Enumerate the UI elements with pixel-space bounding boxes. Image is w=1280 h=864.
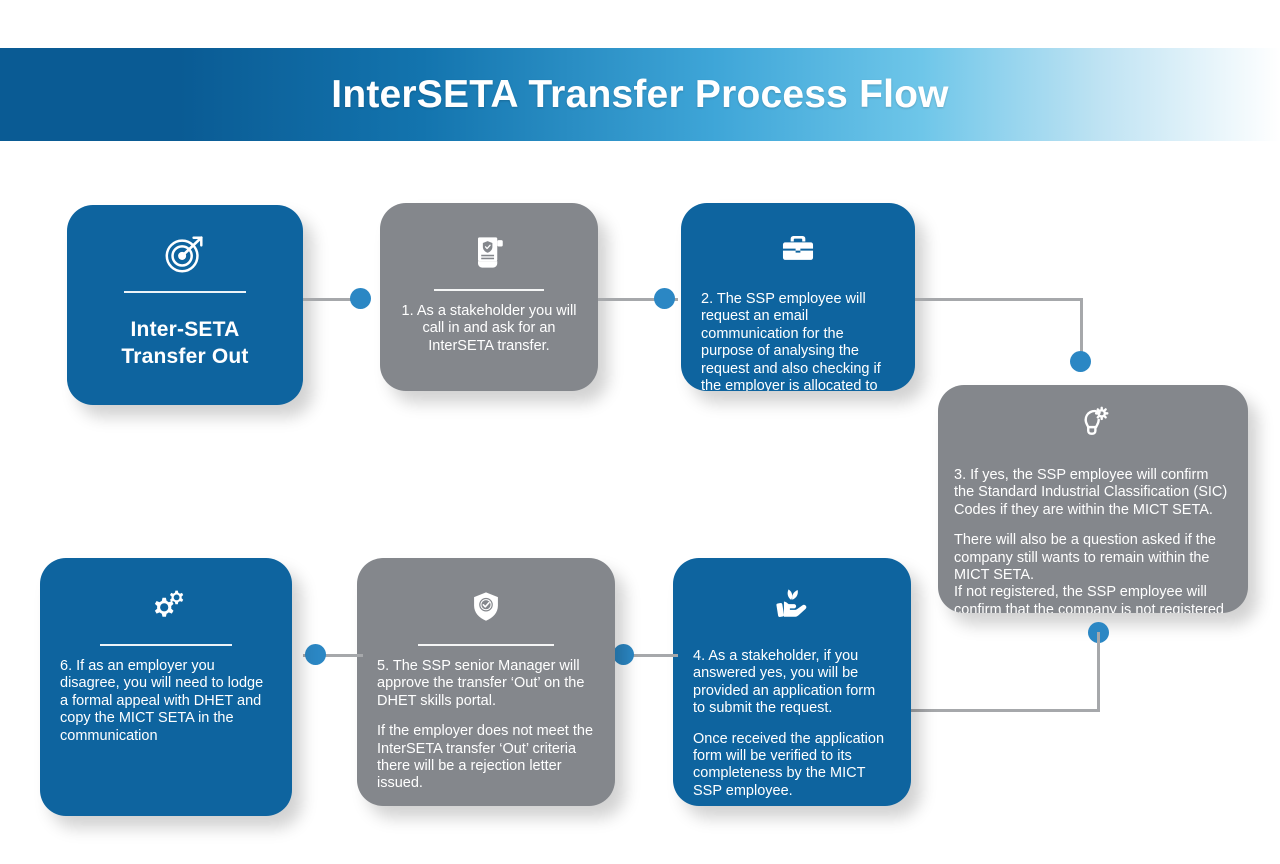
hand-leaf-icon: [769, 580, 815, 626]
card-step-5[interactable]: 5. The SSP senior Manager will approve t…: [357, 558, 615, 806]
connector-dot-1-to-2: [654, 288, 675, 309]
card-body-step-3: 3. If yes, the SSP employee will confirm…: [954, 467, 1232, 613]
card-body-step-5: 5. The SSP senior Manager will approve t…: [377, 658, 595, 793]
card-paragraph: 6. If as an employer you disagree, you w…: [60, 658, 272, 745]
card-step-6[interactable]: 6. If as an employer you disagree, you w…: [40, 558, 292, 816]
card-step-2[interactable]: 2. The SSP employee will request an emai…: [681, 203, 915, 391]
card-body-step-4: 4. As a stakeholder, if you answered yes…: [693, 648, 891, 800]
card-paragraph: 2. The SSP employee will request an emai…: [701, 291, 895, 391]
connector-dot-5-to-6: [305, 644, 326, 665]
connector-3-to-4-vertical: [1097, 632, 1100, 712]
connector-2-to-3-horizontal: [915, 298, 1083, 301]
process-flow-diagram: InterSETA Transfer Process Flow Inter-SE…: [0, 0, 1280, 864]
lightbulb-gear-icon: [1071, 401, 1115, 445]
card-paragraph: There will also be a question asked if t…: [954, 532, 1232, 584]
card-paragraph: 4. As a stakeholder, if you answered yes…: [693, 648, 891, 718]
card-paragraph: 5. The SSP senior Manager will approve t…: [377, 658, 595, 710]
connector-dot-start-to-1: [350, 288, 371, 309]
card-divider: [100, 644, 231, 646]
certificate-scroll-icon: [467, 225, 511, 279]
target-arrow-icon: [162, 227, 208, 281]
connector-3-to-4-horizontal: [910, 709, 1100, 712]
card-paragraph: 3. If yes, the SSP employee will confirm…: [954, 467, 1232, 519]
card-start[interactable]: Inter-SETA Transfer Out: [67, 205, 303, 405]
card-step-1[interactable]: 1. As a stakeholder you will call in and…: [380, 203, 598, 391]
card-paragraph: 1. As a stakeholder you will call in and…: [400, 303, 578, 355]
card-body-step-2: 2. The SSP employee will request an emai…: [701, 291, 895, 391]
card-paragraph: If the employer does not meet the InterS…: [377, 723, 595, 793]
card-step-4[interactable]: 4. As a stakeholder, if you answered yes…: [673, 558, 911, 806]
gears-icon: [142, 580, 190, 634]
card-divider: [418, 644, 553, 646]
card-title-line-2: Transfer Out: [121, 344, 248, 371]
card-paragraph: If not registered, the SSP employee will…: [954, 584, 1232, 613]
card-title-start: Inter-SETA Transfer Out: [121, 317, 248, 371]
connector-dot-4-to-5: [613, 644, 634, 665]
card-divider: [434, 289, 544, 291]
card-step-3[interactable]: 3. If yes, the SSP employee will confirm…: [938, 385, 1248, 613]
page-title: InterSETA Transfer Process Flow: [0, 48, 1280, 141]
card-title-line-1: Inter-SETA: [121, 317, 248, 344]
card-paragraph: Once received the application form will …: [693, 731, 891, 801]
shield-check-icon: [464, 580, 508, 634]
connector-dot-2-to-3: [1070, 351, 1091, 372]
briefcase-icon: [776, 225, 820, 269]
card-body-step-6: 6. If as an employer you disagree, you w…: [60, 658, 272, 745]
card-divider: [124, 291, 246, 293]
card-body-step-1: 1. As a stakeholder you will call in and…: [400, 303, 578, 355]
